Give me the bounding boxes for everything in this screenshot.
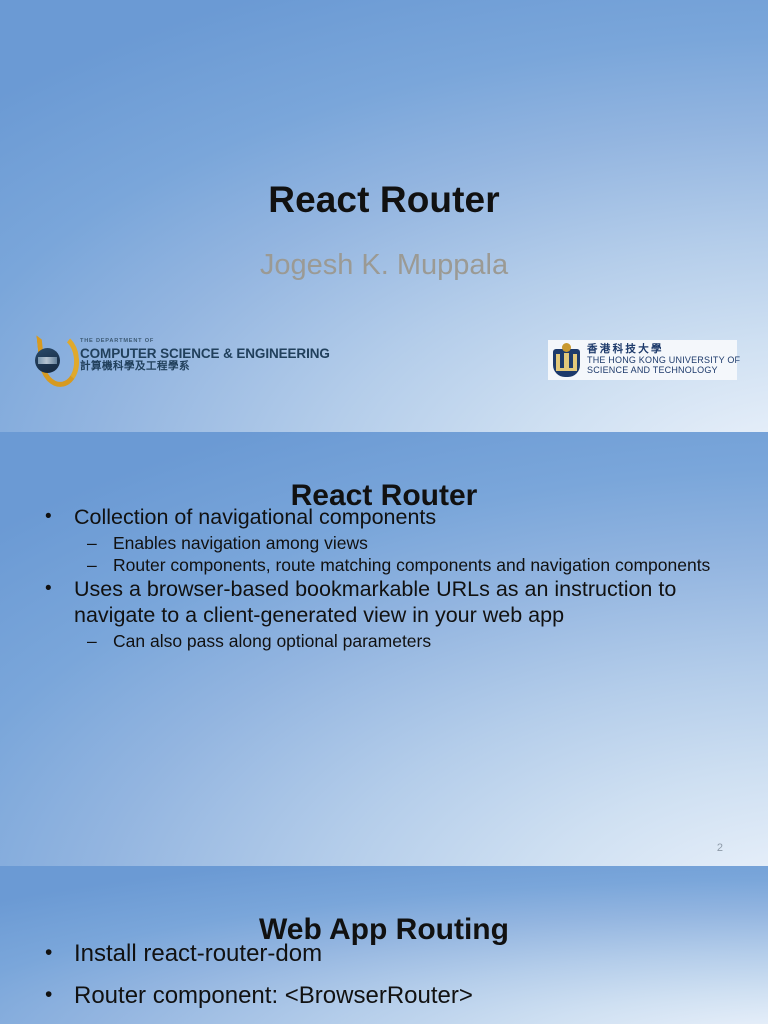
sub-bullet-text: Router components, route matching compon… <box>113 554 738 576</box>
bullet-item: • Uses a browser-based bookmarkable URLs… <box>40 576 738 629</box>
bullet-marker-dash-icon: – <box>40 532 113 554</box>
presentation-author: Jogesh K. Muppala <box>0 250 768 282</box>
bullet-marker-dot-icon: • <box>40 980 74 1009</box>
cse-flame-globe-icon <box>33 332 73 378</box>
slide-web-app-routing: Web App Routing • Install react-router-d… <box>0 866 768 1024</box>
bullet-list: • Install react-router-dom • Router comp… <box>40 938 738 1022</box>
bullet-marker-dot-icon: • <box>40 938 74 967</box>
slide-page-number: 2 <box>717 842 723 854</box>
cse-logo-text: THE DEPARTMENT OF COMPUTER SCIENCE & ENG… <box>80 338 330 371</box>
sub-bullet-item: – Can also pass along optional parameter… <box>40 630 738 652</box>
sub-bullet-item: – Enables navigation among views <box>40 532 738 554</box>
bullet-text: Uses a browser-based bookmarkable URLs a… <box>74 576 738 629</box>
bullet-marker-dot-icon: • <box>40 504 74 531</box>
sub-bullet-text: Can also pass along optional parameters <box>113 630 738 652</box>
hkust-logo-chinese: 香港科技大學 <box>587 344 740 355</box>
cse-logo-line-chinese: 計算機科學及工程學系 <box>80 361 330 372</box>
cse-department-logo: THE DEPARTMENT OF COMPUTER SCIENCE & ENG… <box>33 330 269 380</box>
hkust-university-logo: 香港科技大學 THE HONG KONG UNIVERSITY OF SCIEN… <box>548 340 737 380</box>
cse-logo-line-name: COMPUTER SCIENCE & ENGINEERING <box>80 347 330 361</box>
bullet-item: • Collection of navigational components <box>40 504 738 531</box>
slide-react-router: React Router • Collection of navigationa… <box>0 432 768 866</box>
bullet-text: Collection of navigational components <box>74 504 738 530</box>
bullet-marker-dash-icon: – <box>40 630 113 652</box>
bullet-item: • Router component: <BrowserRouter> <box>40 980 738 1011</box>
sub-bullet-item: – Router components, route matching comp… <box>40 554 738 576</box>
slide-title: React Router Jogesh K. Muppala THE DEPAR… <box>0 0 768 432</box>
hkust-logo-english-line-2: SCIENCE AND TECHNOLOGY <box>587 366 740 376</box>
sub-bullet-text: Enables navigation among views <box>113 532 738 554</box>
presentation-title: React Router <box>0 180 768 221</box>
bullet-text: Install react-router-dom <box>74 938 738 969</box>
bullet-text: Router component: <BrowserRouter> <box>74 980 738 1011</box>
bullet-list: • Collection of navigational components … <box>40 504 738 652</box>
cse-logo-line-department: THE DEPARTMENT OF <box>80 339 330 345</box>
slide-deck: React Router Jogesh K. Muppala THE DEPAR… <box>0 0 768 1024</box>
hkust-emblem-icon <box>553 343 580 377</box>
bullet-marker-dot-icon: • <box>40 576 74 603</box>
bullet-item: • Install react-router-dom <box>40 938 738 969</box>
bullet-marker-dash-icon: – <box>40 554 113 576</box>
hkust-logo-text: 香港科技大學 THE HONG KONG UNIVERSITY OF SCIEN… <box>587 344 740 376</box>
